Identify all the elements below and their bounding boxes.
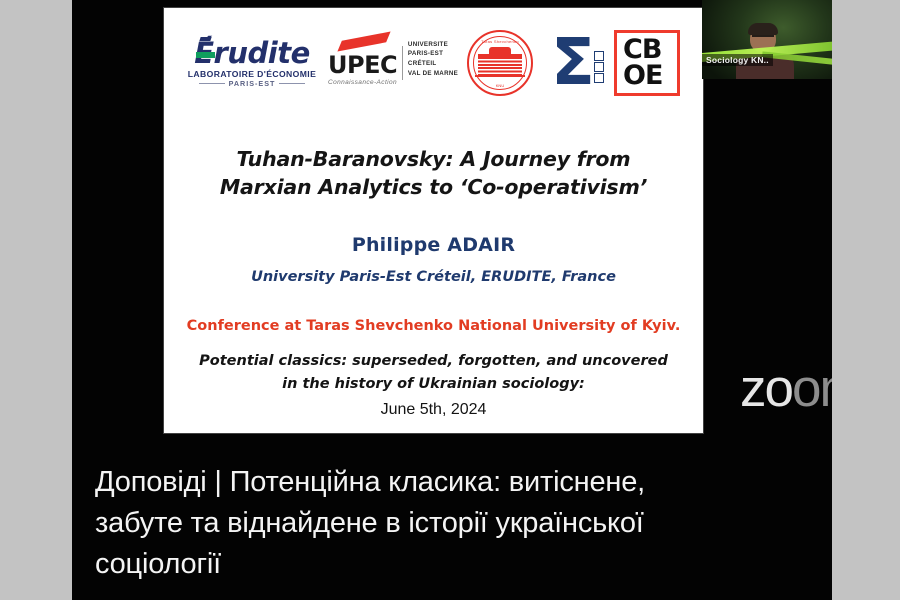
slide-conference-line: Conference at Taras Shevchenko National … <box>164 318 703 334</box>
sigma-box-3 <box>594 73 604 83</box>
caption-line-3: соціології <box>95 544 785 585</box>
sigma-box-1 <box>594 51 604 61</box>
seal-building-base <box>475 75 525 77</box>
erudite-wordmark: Érudite <box>194 39 310 68</box>
seal-circle: Taras Shevchenko KNU <box>467 30 533 96</box>
erudite-green-bar <box>196 52 215 58</box>
slide-affiliation: University Paris-Est Créteil, ERUDITE, F… <box>164 269 703 285</box>
upec-line-3: VAL DE MARNE <box>408 69 462 79</box>
caption-line-2: забуте та віднайдене в історії українськ… <box>95 503 785 544</box>
upec-line-2: PARIS-EST CRÉTEIL <box>408 49 462 68</box>
cboe-logo: CB OE <box>608 30 686 96</box>
sigma-logo: Σ <box>538 37 608 89</box>
erudite-logo: Érudite LABORATOIRE D'ÉCONOMIE PARIS-EST <box>182 39 322 87</box>
zoom-watermark-dark: om <box>792 359 832 418</box>
sigma-side-boxes <box>594 51 604 83</box>
shared-screen-slide: Érudite LABORATOIRE D'ÉCONOMIE PARIS-EST… <box>164 8 703 433</box>
upec-wordmark: UPEC Connaissance-Action <box>328 53 397 86</box>
erudite-subtitle: LABORATOIRE D'ÉCONOMIE <box>182 70 322 79</box>
slide-title: Tuhan-Baranovsky: A Journey from Marxian… <box>164 146 703 201</box>
zoom-watermark-light: zo <box>740 359 792 418</box>
upec-tagline: Connaissance-Action <box>328 79 397 86</box>
slide-subtitle: Potential classics: superseded, forgotte… <box>164 350 703 423</box>
erudite-subtitle-secondary: PARIS-EST <box>182 80 322 87</box>
logo-row: Érudite LABORATOIRE D'ÉCONOMIE PARIS-EST… <box>164 22 703 104</box>
erudite-accent-tick <box>200 37 212 41</box>
slide-title-line-2: Marxian Analytics to ‘Co-operativism’ <box>164 174 703 202</box>
seal-top-text: Taras Shevchenko <box>469 39 531 44</box>
upec-red-stripe <box>337 32 390 52</box>
slide-subtitle-line-1: Potential classics: superseded, forgotte… <box>164 350 703 373</box>
slide-subtitle-line-2: in the history of Ukrainian sociology: <box>164 373 703 396</box>
slide-date: June 5th, 2024 <box>164 397 703 423</box>
cboe-box: CB OE <box>614 30 680 96</box>
slide-title-line-1: Tuhan-Baranovsky: A Journey from <box>164 146 703 174</box>
taras-shevchenko-seal-logo: Taras Shevchenko KNU <box>462 30 538 96</box>
sigma-box-2 <box>594 62 604 72</box>
participant-hair <box>748 23 778 35</box>
caption-line-1: Доповіді | Потенційна класика: витіснене… <box>95 462 785 503</box>
glasses-icon <box>752 35 774 42</box>
upec-university-lines: UNIVERSITE PARIS-EST CRÉTEIL VAL DE MARN… <box>408 40 462 86</box>
sigma-icon: Σ <box>551 37 595 89</box>
cboe-line-2: OE <box>623 63 662 89</box>
participant-video-thumbnail[interactable]: Sociology KN.. <box>702 0 832 79</box>
seal-bottom-text: KNU <box>469 83 531 88</box>
screenshot-viewport: Érudite LABORATOIRE D'ÉCONOMIE PARIS-EST… <box>0 0 900 600</box>
upec-word: UPEC <box>328 53 397 77</box>
zoom-watermark: zoom <box>740 362 832 415</box>
slide-author: Philippe ADAIR <box>164 234 703 256</box>
upec-logo: UPEC Connaissance-Action UNIVERSITE PARI… <box>322 40 462 86</box>
caption-text: Доповіді | Потенційна класика: витіснене… <box>95 462 785 585</box>
seal-building-icon <box>478 54 522 77</box>
participant-name-label: Sociology KN.. <box>702 54 773 66</box>
slide-subtitle-line-2-wrapper: in the history of Ukrainian sociology: J… <box>164 373 703 422</box>
upec-divider <box>402 46 403 80</box>
upec-line-1: UNIVERSITE <box>408 40 462 50</box>
video-stage: Érudite LABORATOIRE D'ÉCONOMIE PARIS-EST… <box>72 0 832 600</box>
